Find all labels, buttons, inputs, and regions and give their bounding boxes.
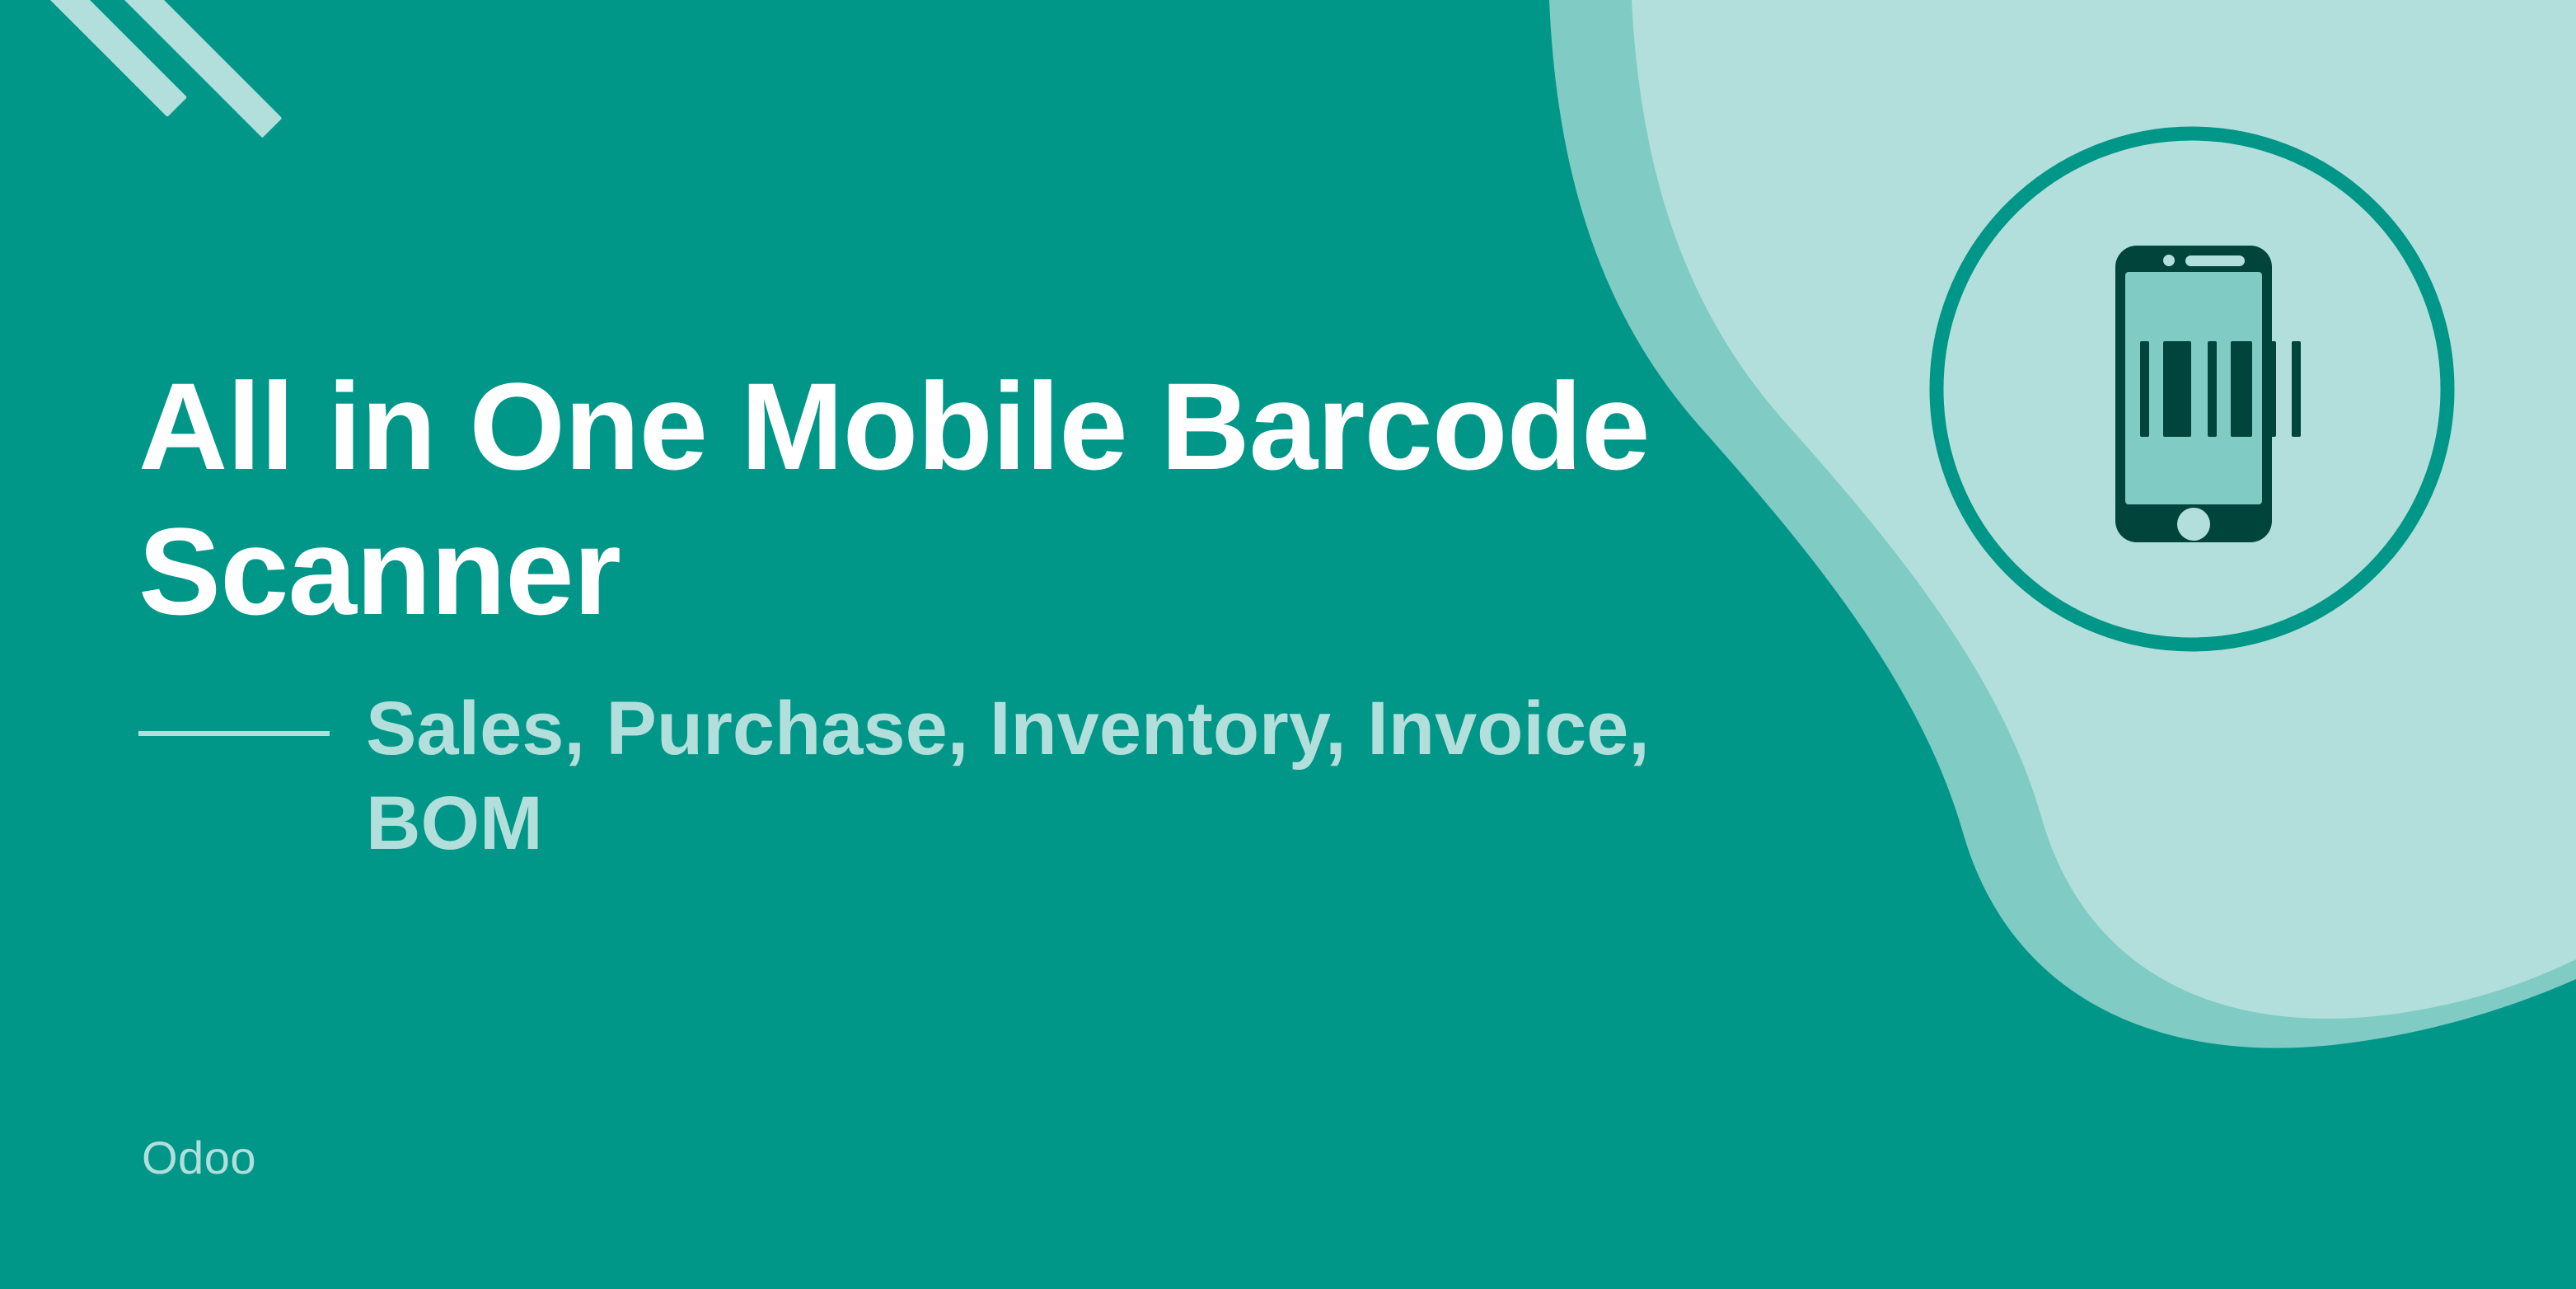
- barcode-bar: [2231, 341, 2252, 437]
- home-button-icon: [2177, 508, 2210, 541]
- barcode-bar: [2267, 341, 2276, 437]
- brand-label: Odoo: [142, 1131, 256, 1184]
- page-subtitle: Sales, Purchase, Inventory, Invoice, BOM: [366, 682, 1709, 871]
- barcode-bar: [2140, 341, 2149, 437]
- mobile-barcode-scanner-icon: [1922, 119, 2462, 659]
- subtitle-row: Sales, Purchase, Inventory, Invoice, BOM: [138, 682, 1754, 871]
- hero-text-block: All in One Mobile Barcode Scanner Sales,…: [138, 354, 1754, 871]
- camera-dot-icon: [2163, 255, 2175, 266]
- phone-badge-svg: [1922, 119, 2462, 659]
- slide-canvas: All in One Mobile Barcode Scanner Sales,…: [0, 0, 2576, 1289]
- page-title: All in One Mobile Barcode Scanner: [138, 354, 1754, 644]
- barcode-bar: [2208, 341, 2217, 437]
- subtitle-divider: [138, 731, 330, 736]
- barcode-bar: [2163, 341, 2191, 437]
- barcode-bar: [2292, 341, 2301, 437]
- speaker-slot-icon: [2185, 255, 2245, 266]
